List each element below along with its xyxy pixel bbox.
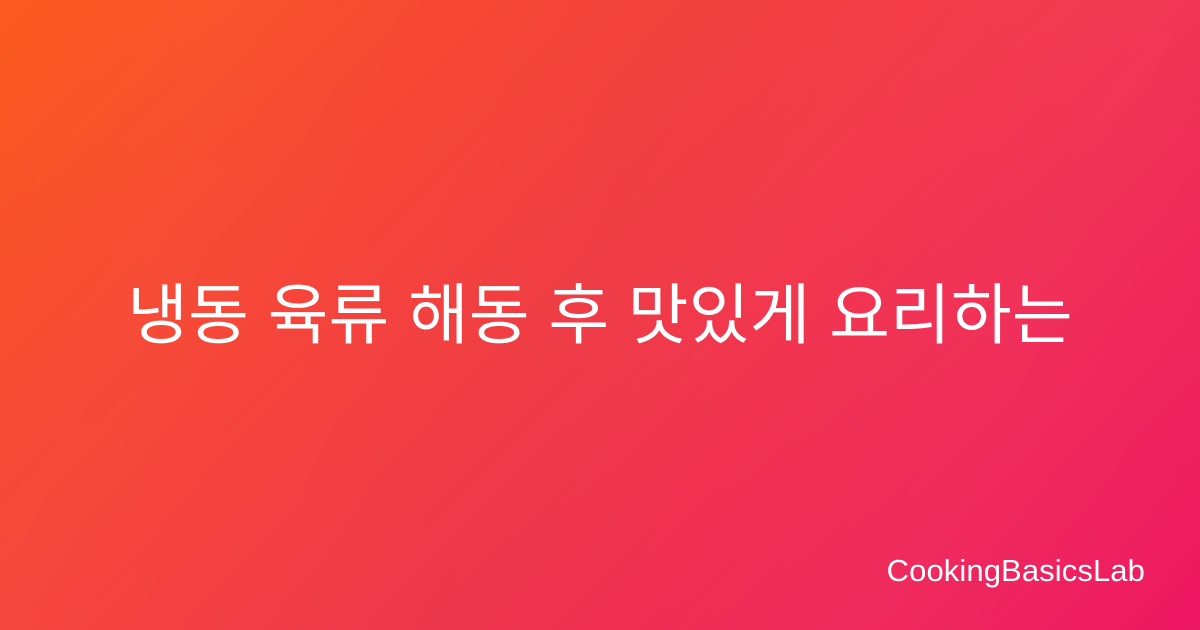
brand-watermark: CookingBasicsLab (887, 555, 1145, 586)
page-title: 냉동 육류 해동 후 맛있게 요리하는 (127, 273, 1073, 357)
headline-container: 냉동 육류 해동 후 맛있게 요리하는 (0, 0, 1200, 630)
social-share-card: 냉동 육류 해동 후 맛있게 요리하는 CookingBasicsLab (0, 0, 1200, 630)
